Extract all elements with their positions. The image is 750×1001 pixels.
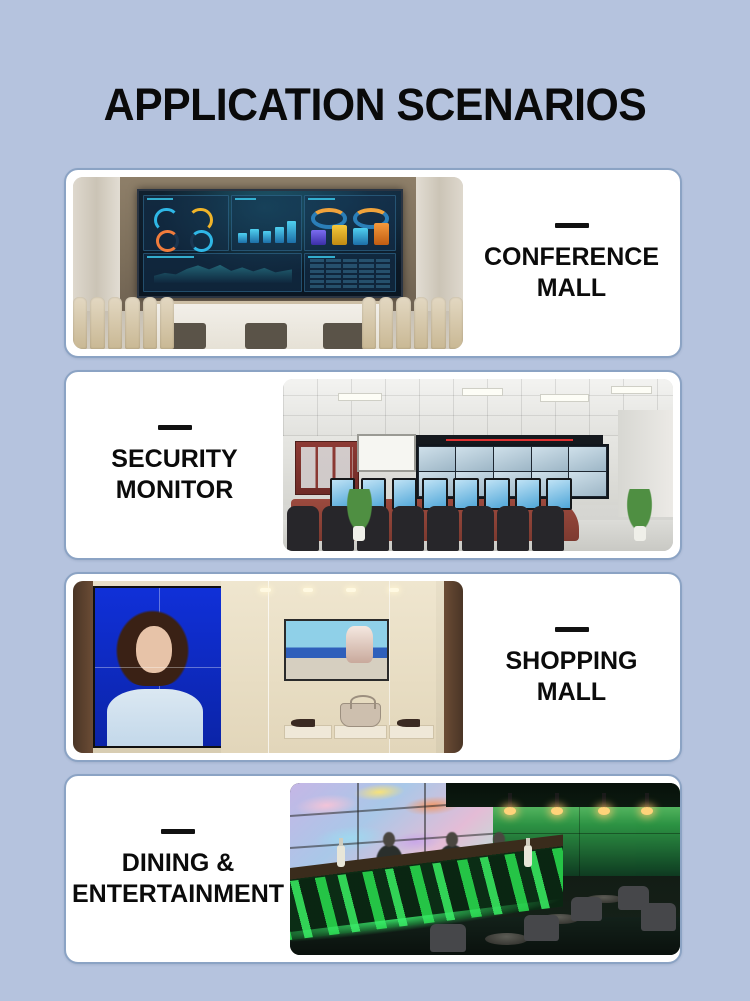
shopping-mall-storefront-image xyxy=(73,581,463,753)
label-line-1: SHOPPING xyxy=(469,646,674,677)
label-line-2: MONITOR xyxy=(72,475,277,506)
label-dash xyxy=(555,627,589,632)
scenario-label-security-monitor: SECURITY MONITOR xyxy=(66,425,283,505)
bar-lounge-image xyxy=(290,783,680,955)
scenario-card-security-monitor[interactable]: SECURITY MONITOR xyxy=(64,370,682,560)
scenario-card-list: CONFERENCE MALL SECURITY MONITOR xyxy=(64,168,682,976)
scenario-label-dining-entertainment: DINING & ENTERTAINMENT xyxy=(66,829,290,909)
label-line-1: SECURITY xyxy=(72,444,277,475)
label-line-2: MALL xyxy=(469,677,674,708)
label-line-2: ENTERTAINMENT xyxy=(72,879,284,910)
label-dash xyxy=(555,223,589,228)
label-line-1: CONFERENCE xyxy=(469,242,674,273)
page-title: APPLICATION SCENARIOS xyxy=(19,0,732,127)
label-dash xyxy=(158,425,192,430)
conference-hall-image xyxy=(73,177,463,349)
scenario-label-conference-mall: CONFERENCE MALL xyxy=(463,223,680,303)
led-video-wall-dashboard xyxy=(137,189,402,298)
fashion-video-wall xyxy=(93,586,226,748)
scenario-card-dining-entertainment[interactable]: DINING & ENTERTAINMENT xyxy=(64,774,682,964)
scenario-card-conference-mall[interactable]: CONFERENCE MALL xyxy=(64,168,682,358)
label-line-1: DINING & xyxy=(72,848,284,879)
wall-mounted-display xyxy=(284,619,389,681)
projection-screen xyxy=(357,434,416,472)
security-control-room-image xyxy=(283,379,673,551)
label-dash xyxy=(161,829,195,834)
scenario-label-shopping-mall: SHOPPING MALL xyxy=(463,627,680,707)
scenario-card-shopping-mall[interactable]: SHOPPING MALL xyxy=(64,572,682,762)
label-line-2: MALL xyxy=(469,273,674,304)
